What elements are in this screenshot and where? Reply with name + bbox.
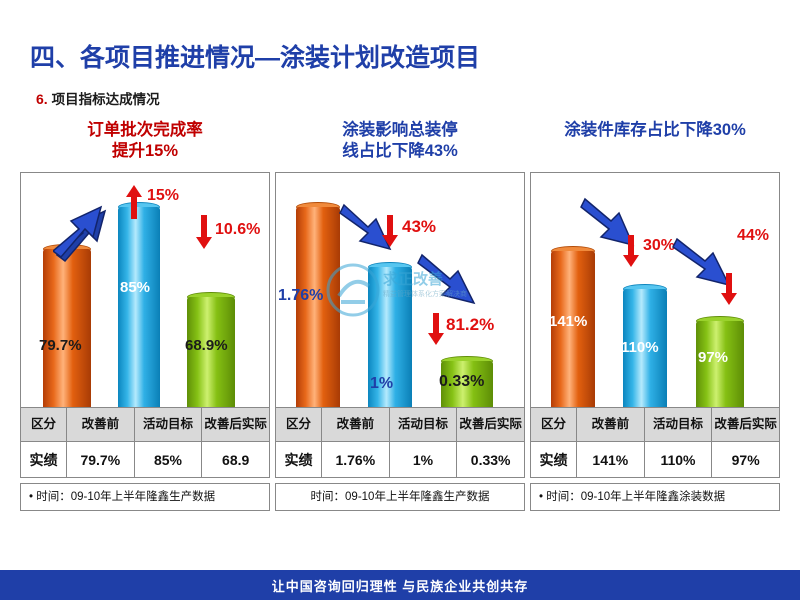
bar-value-label: 141% [549, 313, 587, 330]
bar-chart-area: 141% 110% 97% 30% 44% [530, 172, 780, 407]
table-cell-0: 实绩 [21, 442, 67, 478]
table-header-cell-2: 活动目标 [644, 408, 712, 442]
bar-before: 79.7% [43, 249, 91, 407]
table-cell-1: 1.76% [322, 442, 390, 478]
table-header-cell-3: 改善后实际 [457, 408, 525, 442]
bar-value-label: 1.76% [278, 287, 323, 305]
callout-increase: 15% [147, 187, 179, 205]
bar-body [43, 249, 91, 407]
bar-body [118, 207, 160, 407]
table-header-cell-3: 改善后实际 [712, 408, 780, 442]
bar-value-label: 68.9% [185, 337, 228, 354]
table-header-cell-0: 区分 [276, 408, 322, 442]
data-source-note: • 时间：09-10年上半年隆鑫生产数据 [20, 483, 270, 511]
table-cell-0: 实绩 [531, 442, 577, 478]
table-header-cell-1: 改善前 [577, 408, 645, 442]
bar-value-label: 79.7% [39, 337, 82, 354]
data-source-note: 时间：09-10年上半年隆鑫生产数据 [275, 483, 525, 511]
table-header-cell-1: 改善前 [67, 408, 135, 442]
bar-value-label: 0.33% [439, 373, 484, 391]
table-cell-2: 85% [134, 442, 202, 478]
table-header-row: 区分 改善前 活动目标 改善后实际 [531, 408, 780, 442]
bar-before: 141% [551, 251, 595, 407]
table-cell-1: 141% [577, 442, 645, 478]
panel-title: 涂装影响总装停 线占比下降43% [275, 120, 525, 170]
chart-panel-line-stop: 涂装影响总装停 线占比下降43% 1.76% 1% 0.33% 43% [275, 120, 525, 550]
bar-before: 1.76% [296, 207, 340, 407]
table-header-cell-2: 活动目标 [134, 408, 202, 442]
bar-chart-area: 79.7% 85% 68.9% 15% 10.6% [20, 172, 270, 407]
bar-target: 85% [118, 207, 160, 407]
chart-panel-inventory: 涂装件库存占比下降30% 141% 110% 97% 30% [530, 120, 780, 550]
section-subtitle: 6. 项目指标达成情况 [36, 88, 160, 108]
bar-target: 1% [368, 267, 412, 407]
callout-decrease-2: 44% [737, 227, 769, 245]
panel-title-line2: 提升15% [20, 141, 270, 162]
bar-value-label: 1% [370, 375, 393, 393]
red-arrow-down-icon [721, 273, 737, 305]
footer-text: 让中国咨询回归理性 与民族企业共创共存 [272, 576, 529, 595]
bar-value-label: 97% [698, 349, 728, 366]
table-row: 实绩 79.7% 85% 68.9 [21, 442, 270, 478]
red-arrow-down-icon [428, 313, 444, 345]
bar-body [296, 207, 340, 407]
bar-chart-area: 1.76% 1% 0.33% 43% 81.2% [275, 172, 525, 407]
panel-title-line2: 线占比下降43% [275, 141, 525, 162]
red-arrow-up-icon [126, 185, 142, 219]
table-cell-2: 1% [389, 442, 457, 478]
bar-after: 0.33% [441, 361, 493, 407]
table-row: 实绩 141% 110% 97% [531, 442, 780, 478]
table-cell-3: 0.33% [457, 442, 525, 478]
callout-decrease-2: 81.2% [446, 315, 494, 335]
panel-title-line1: 涂装件库存占比下降30% [530, 120, 780, 141]
table-header-cell-0: 区分 [531, 408, 577, 442]
bar-value-label: 110% [621, 339, 659, 356]
callout-decrease: 10.6% [215, 221, 260, 239]
bar-target: 110% [623, 289, 667, 407]
footer-bar: 让中国咨询回归理性 与民族企业共创共存 [0, 570, 800, 600]
table-cell-1: 79.7% [67, 442, 135, 478]
red-arrow-down-icon [382, 215, 398, 247]
bar-after: 97% [696, 321, 744, 407]
page-title: 四、各项目推进情况—涂装计划改造项目 [30, 38, 480, 74]
data-table: 区分 改善前 活动目标 改善后实际 实绩 79.7% 85% 68.9 [20, 407, 270, 478]
data-table: 区分 改善前 活动目标 改善后实际 实绩 1.76% 1% 0.33% [275, 407, 525, 478]
bar-after: 68.9% [187, 297, 235, 407]
table-row: 实绩 1.76% 1% 0.33% [276, 442, 525, 478]
blue-arrow-down-icon [416, 251, 486, 317]
table-header-cell-2: 活动目标 [389, 408, 457, 442]
callout-decrease-1: 43% [402, 217, 436, 237]
table-cell-0: 实绩 [276, 442, 322, 478]
table-header-row: 区分 改善前 活动目标 改善后实际 [21, 408, 270, 442]
data-table: 区分 改善前 活动目标 改善后实际 实绩 141% 110% 97% [530, 407, 780, 478]
bar-value-label: 85% [120, 279, 150, 296]
table-cell-3: 68.9 [202, 442, 270, 478]
panel-title: 订单批次完成率 提升15% [20, 120, 270, 170]
panel-title: 涂装件库存占比下降30% [530, 120, 780, 170]
panel-title-line1: 订单批次完成率 [20, 120, 270, 141]
data-source-note: • 时间：09-10年上半年隆鑫涂装数据 [530, 483, 780, 511]
subtitle-number: 6. [36, 91, 48, 107]
table-header-cell-0: 区分 [21, 408, 67, 442]
chart-panel-order-completion: 订单批次完成率 提升15% 79.7% 85% 68.9% 15% [20, 120, 270, 550]
blue-arrow-up-icon [53, 203, 123, 263]
panel-title-line1: 涂装影响总装停 [275, 120, 525, 141]
table-header-row: 区分 改善前 活动目标 改善后实际 [276, 408, 525, 442]
table-header-cell-1: 改善前 [322, 408, 390, 442]
table-cell-2: 110% [644, 442, 712, 478]
subtitle-text: 项目指标达成情况 [52, 92, 160, 107]
red-arrow-down-icon [196, 215, 212, 249]
red-arrow-down-icon [623, 235, 639, 267]
table-cell-3: 97% [712, 442, 780, 478]
table-header-cell-3: 改善后实际 [202, 408, 270, 442]
